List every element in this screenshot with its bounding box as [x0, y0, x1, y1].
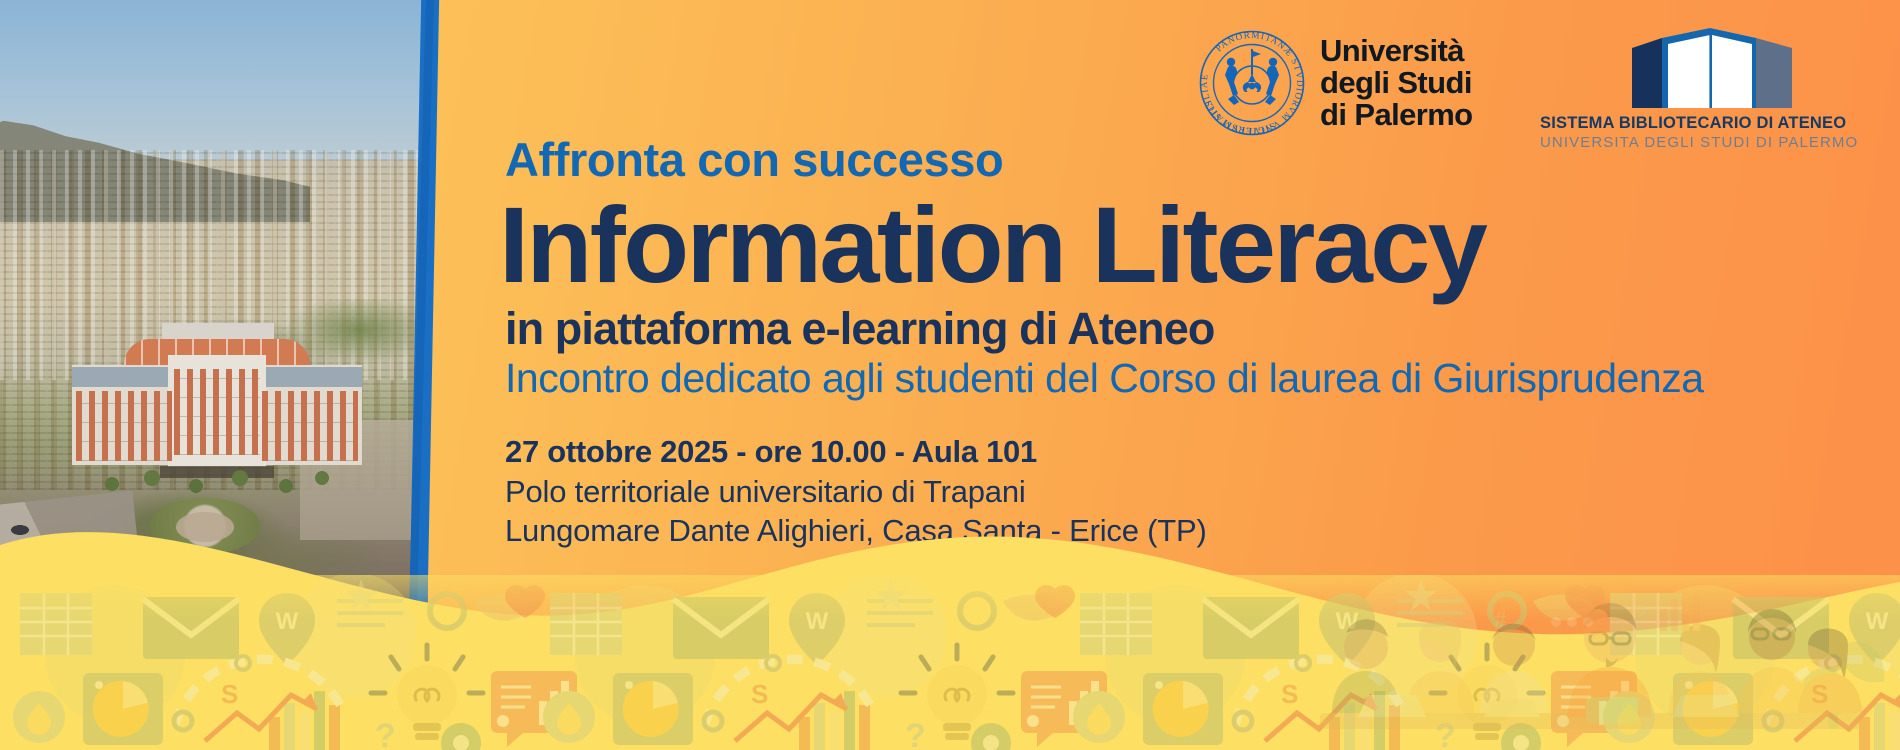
campus-photo-image [0, 0, 428, 640]
university-building [72, 355, 362, 470]
svg-text:SIGILLVM SICILIAE: SIGILLVM SICILIAE [1199, 73, 1277, 136]
unipa-line-3: di Palermo [1320, 99, 1473, 131]
infographic-icon-band: W [0, 575, 1900, 750]
sba-logo: SISTEMA BIBLIOTECARIO DI ATENEO UNIVERSI… [1540, 26, 1840, 146]
icon-band-fade [0, 575, 1900, 750]
unipa-line-1: Università [1320, 35, 1473, 67]
kicker-text: Affronta con successo [505, 136, 1845, 183]
roundabout-center [176, 512, 234, 542]
subtitle-text: in piattaforma e-learning di Ateneo [505, 305, 1845, 354]
unipa-crest-icon: PANORMITANÆ STVDIORVM VNIVERSITATIS SIGI… [1198, 29, 1306, 137]
event-address: Lungomare Dante Alighieri, Casa Santa - … [505, 511, 1845, 551]
event-venue: Polo territoriale universitario di Trapa… [505, 472, 1845, 512]
poster-text-block: Affronta con successo Information Litera… [505, 136, 1845, 551]
event-datetime: 27 ottobre 2025 - ore 10.00 - Aula 101 [505, 432, 1845, 472]
open-book-icon [1632, 26, 1792, 108]
campus-photo [0, 0, 428, 640]
unipa-wordmark: Università degli Studi di Palermo [1320, 35, 1473, 131]
event-details: 27 ottobre 2025 - ore 10.00 - Aula 101 P… [505, 432, 1845, 552]
sba-line-1: SISTEMA BIBLIOTECARIO DI ATENEO [1540, 114, 1840, 133]
unipa-logo: PANORMITANÆ STVDIORVM VNIVERSITATIS SIGI… [1198, 28, 1498, 138]
audience-text: Incontro dedicato agli studenti del Cors… [505, 356, 1845, 402]
page-title: Information Literacy [499, 191, 1845, 299]
event-poster: PANORMITANÆ STVDIORVM VNIVERSITATIS SIGI… [0, 0, 1900, 750]
unipa-line-2: degli Studi [1320, 67, 1473, 99]
